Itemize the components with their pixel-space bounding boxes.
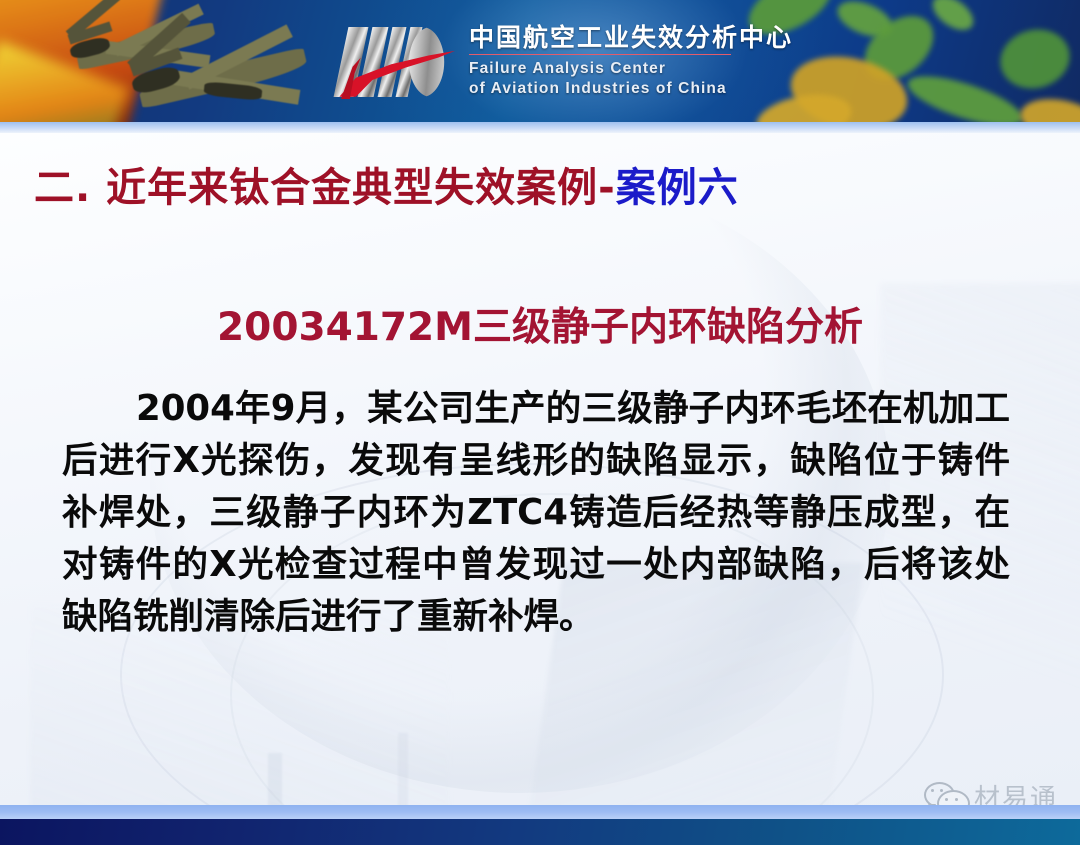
- landmass-shape: [927, 0, 980, 37]
- background-structure: [398, 733, 408, 805]
- footer-accent-band: [0, 805, 1080, 819]
- fac-logo-text: 中国航空工业失效分析中心 Failure Analysis Center of …: [469, 25, 793, 99]
- org-name-chinese: 中国航空工业失效分析中心: [469, 25, 793, 51]
- landmass-shape: [1017, 93, 1080, 122]
- case-title: 20034172M三级静子内环缺陷分析: [0, 308, 1080, 347]
- fighter-jet-icon: [108, 30, 338, 122]
- logo-divider: [469, 54, 731, 55]
- fac-logo: 中国航空工业失效分析中心 Failure Analysis Center of …: [335, 16, 735, 108]
- section-heading-primary: 二. 近年来钛合金典型失效案例-: [34, 165, 616, 211]
- header-accent-band: [0, 122, 1080, 133]
- landmass-shape: [994, 22, 1077, 96]
- section-heading-case-label: 案例六: [616, 165, 739, 211]
- org-name-english-line2: of Aviation Industries of China: [469, 79, 793, 99]
- fac-logo-mark-icon: [335, 23, 457, 101]
- slide-header-banner: 中国航空工业失效分析中心 Failure Analysis Center of …: [0, 0, 1080, 122]
- org-name-english-line1: Failure Analysis Center: [469, 59, 793, 79]
- footer-bar: [0, 819, 1080, 845]
- section-heading: 二. 近年来钛合金典型失效案例-案例六: [34, 168, 739, 208]
- presentation-slide: 中国航空工业失效分析中心 Failure Analysis Center of …: [0, 0, 1080, 845]
- background-structure: [268, 753, 282, 805]
- case-body-text: 2004年9月，某公司生产的三级静子内环毛坯在机加工后进行X光探伤，发现有呈线形…: [62, 383, 1010, 643]
